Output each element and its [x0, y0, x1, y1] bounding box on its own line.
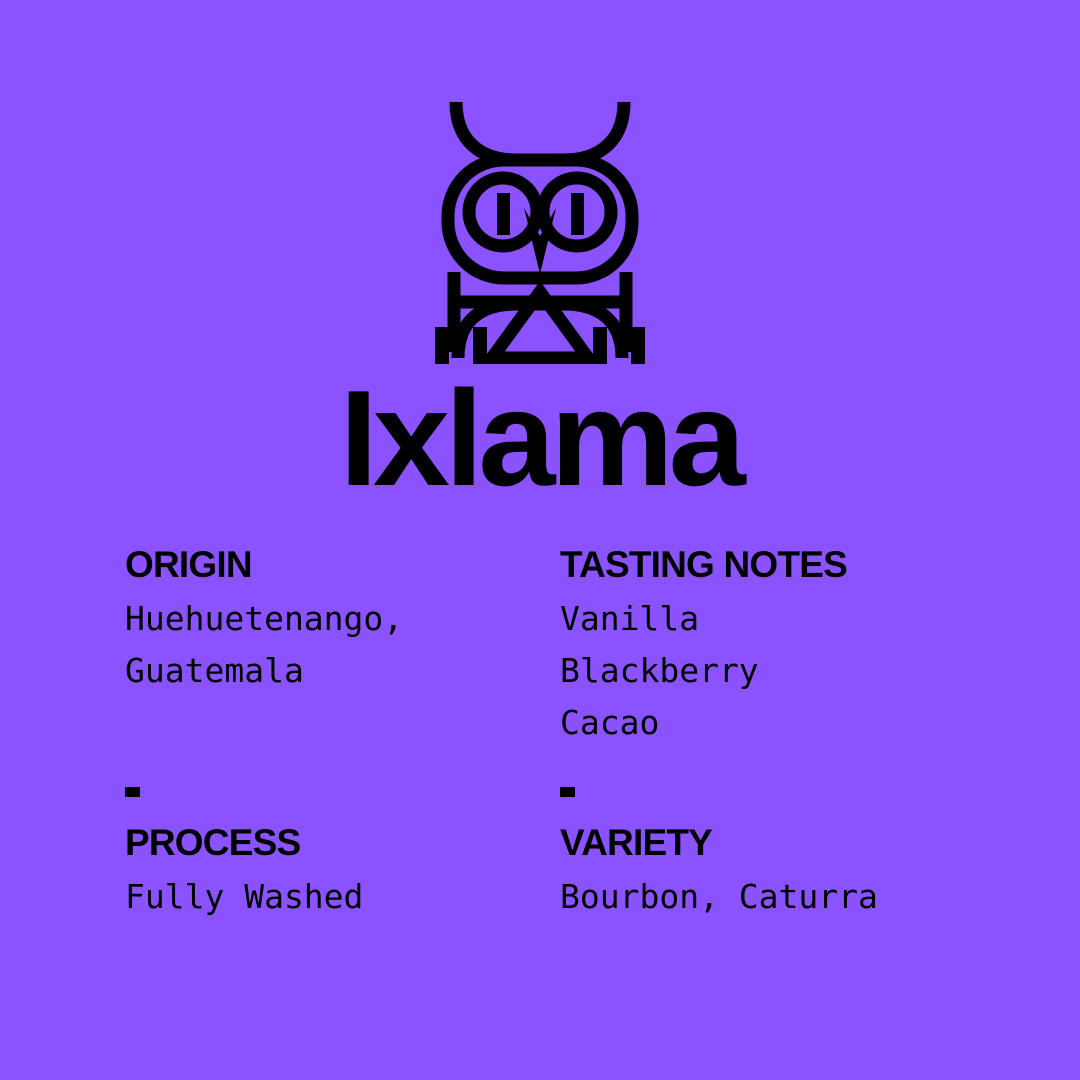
separator-dash-icon [560, 787, 575, 797]
spec-line: Cacao [560, 697, 965, 749]
owl-logo-icon [420, 96, 660, 364]
spec-block-origin: ORIGIN Huehuetenango, Guatemala [125, 543, 560, 697]
spec-line: Huehuetenango, [125, 593, 560, 645]
coffee-label-card: Ixlama ORIGIN Huehuetenango, Guatemala T… [0, 0, 1080, 1080]
spec-body-variety: Bourbon, Caturra [560, 871, 965, 923]
spec-heading-tasting-notes: TASTING NOTES [560, 543, 965, 587]
spec-body-process: Fully Washed [125, 871, 560, 923]
owl-right-pupil [571, 193, 584, 235]
spec-line: Fully Washed [125, 871, 560, 923]
spec-grid: ORIGIN Huehuetenango, Guatemala TASTING … [125, 543, 965, 923]
product-title: Ixlama [0, 370, 1080, 506]
spec-body-origin: Huehuetenango, Guatemala [125, 593, 560, 697]
spec-line: Blackberry [560, 645, 965, 697]
separator-right [560, 749, 965, 821]
spec-heading-variety: VARIETY [560, 821, 965, 865]
owl-left-pupil [497, 193, 510, 235]
separator-dash-icon [125, 787, 140, 797]
spec-row-bottom: PROCESS Fully Washed VARIETY Bourbon, Ca… [125, 821, 965, 923]
separator-cell-left [125, 749, 560, 821]
spec-block-process: PROCESS Fully Washed [125, 821, 560, 923]
spec-line: Bourbon, Caturra [560, 871, 965, 923]
spec-line: Guatemala [125, 645, 560, 697]
spec-row-top: ORIGIN Huehuetenango, Guatemala TASTING … [125, 543, 965, 749]
separator-left [125, 749, 560, 821]
spec-block-tasting-notes: TASTING NOTES Vanilla Blackberry Cacao [560, 543, 965, 749]
spec-heading-origin: ORIGIN [125, 543, 560, 587]
spec-row-separator [125, 749, 965, 821]
logo-container [0, 96, 1080, 364]
separator-cell-right [560, 749, 965, 821]
spec-block-variety: VARIETY Bourbon, Caturra [560, 821, 965, 923]
spec-body-tasting-notes: Vanilla Blackberry Cacao [560, 593, 965, 749]
spec-heading-process: PROCESS [125, 821, 560, 865]
spec-line: Vanilla [560, 593, 965, 645]
